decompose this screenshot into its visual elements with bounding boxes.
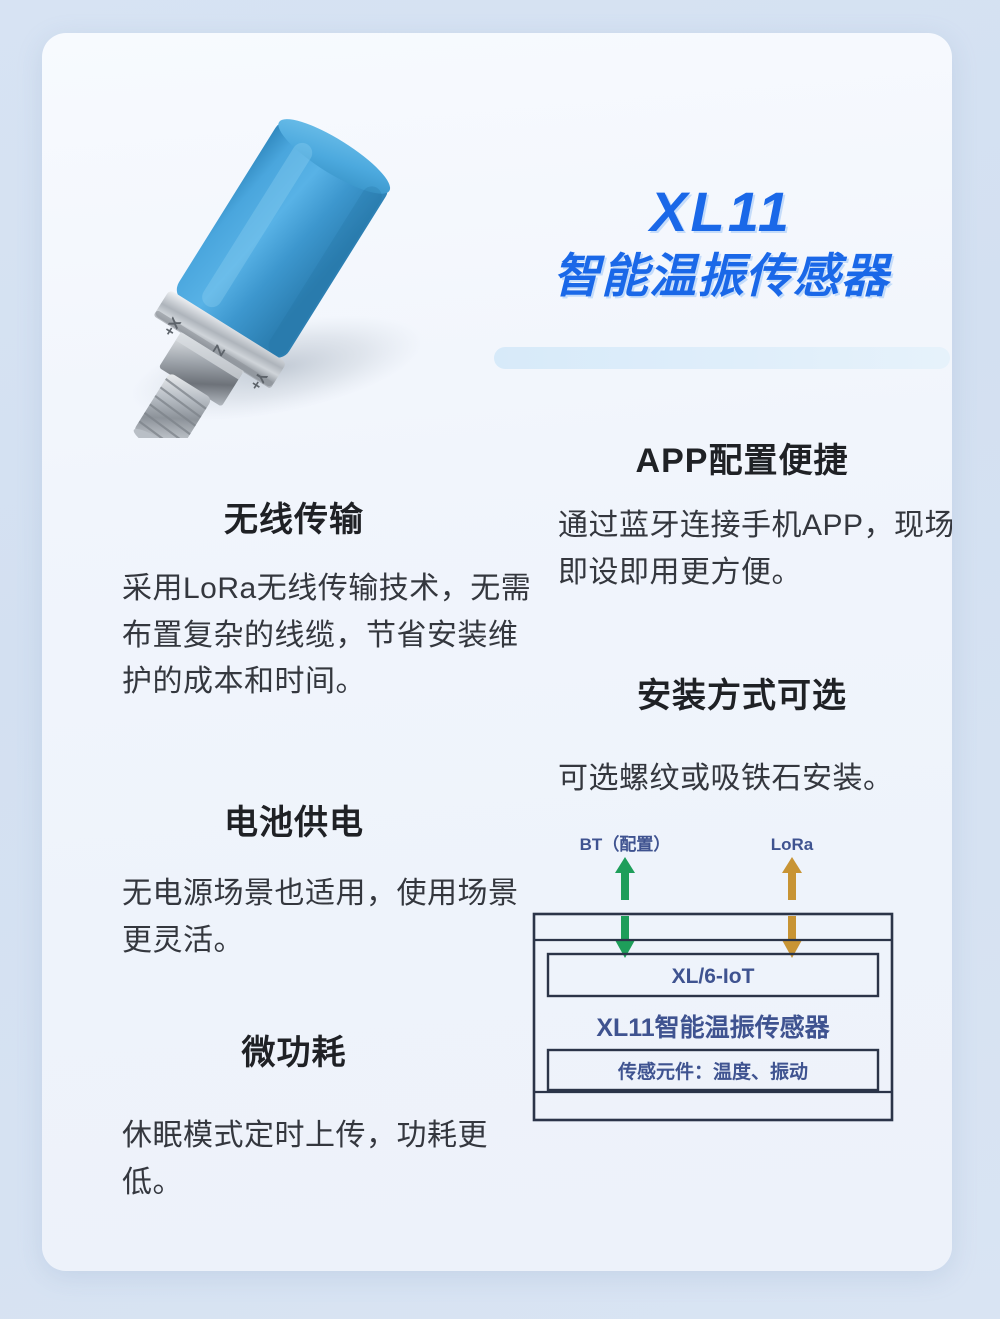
diagram-sensor-label: 传感元件：温度、振动 — [617, 1060, 808, 1083]
product-name: 智能温振传感器 — [490, 250, 952, 303]
feature-body-mounting: 可选螺纹或吸铁石安装。 — [558, 756, 952, 803]
feature-heading-wireless: 无线传输 — [84, 500, 504, 541]
lora-up-arrow — [782, 857, 802, 900]
diagram-bt-label: BT（配置） — [580, 834, 671, 854]
feature-heading-battery: 电池供电 — [84, 803, 504, 844]
product-model: XL11 — [490, 183, 952, 242]
feature-heading-app-config: APP配置便捷 — [532, 441, 952, 482]
title-divider — [494, 347, 950, 369]
diagram-device-label: XL11智能温振传感器 — [596, 1013, 830, 1042]
diagram-module-label: XL/6-IoT — [672, 965, 755, 988]
feature-body-app-config: 通过蓝牙连接手机APP，现场即设即用更方便。 — [558, 503, 952, 596]
feature-heading-low-power: 微功耗 — [84, 1033, 504, 1074]
product-title-block: XL11 智能温振传感器 — [490, 183, 952, 302]
feature-body-low-power: 休眠模式定时上传，功耗更低。 — [122, 1113, 542, 1206]
feature-body-battery: 无电源场景也适用，使用场景更灵活。 — [122, 871, 542, 964]
product-photo: X+ Z+ Y+ — [62, 78, 482, 438]
diagram-lora-label: LoRa — [771, 835, 814, 854]
feature-body-wireless: 采用LoRa无线传输技术，无需布置复杂的线缆，节省安装维护的成本和时间。 — [122, 566, 542, 706]
architecture-diagram: BT（配置） LoRa XL/6-IoT X — [520, 828, 920, 1148]
feature-heading-mounting: 安装方式可选 — [532, 676, 952, 717]
bt-down-arrow — [615, 916, 635, 958]
bt-up-arrow — [615, 857, 635, 900]
lora-down-arrow — [782, 916, 802, 958]
